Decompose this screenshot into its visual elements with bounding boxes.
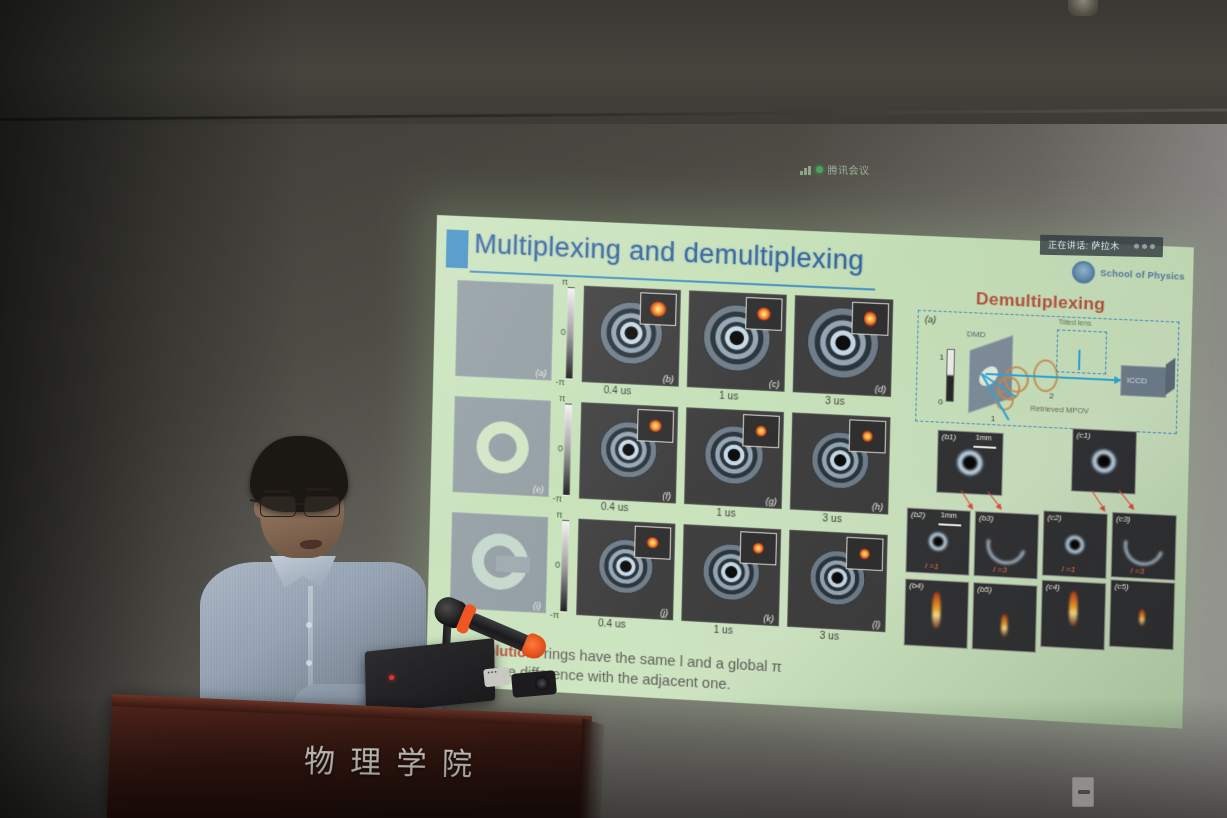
optical-setup-diagram: (a) 1 0 DMD Tilted lens ICCD [915,310,1179,434]
result-panel: (b2) 1mm l =1 [905,507,970,575]
crest-icon [1072,261,1095,284]
time-label: 0.4 us [604,385,632,397]
results-matrix: (a) π 0 -π (b) (c) [449,278,903,653]
inset-panel [634,526,671,560]
time-label: 1 us [719,391,738,403]
tencent-meeting-indicator: 腾讯会议 [800,162,870,177]
arc-beam [980,519,1033,571]
time-label: 1 us [713,625,732,637]
usb-webcam [511,670,557,698]
wall-outlet [1072,777,1094,807]
section-heading: Demultiplexing [976,289,1106,315]
donut-beam [926,530,949,554]
panel-label: (d) [875,384,887,395]
inset-panel [637,409,674,443]
eyebrow [264,490,290,493]
panel-label: (f) [662,491,671,502]
measurement-panel: (b) [582,286,681,387]
lens-left [260,496,296,517]
dmd-label: DMD [967,329,986,339]
lens-label: Tilted lens [1058,319,1091,328]
intensity-streak [1001,614,1008,637]
ceiling-fixture-icon [1068,0,1098,16]
panel-label: (c) [769,379,780,390]
matrix-row: (a) π 0 -π (b) (c) [455,278,904,412]
focal-spot [755,425,766,437]
phase-colorbar [566,287,575,380]
shirt-button [306,660,312,666]
pointer-arrow [1091,491,1104,509]
logo-text: School of Physics [1100,268,1185,282]
matrix-row: (i) π 0 -π (j) (k) [449,510,898,647]
donut-beam [1089,446,1119,476]
retrieved-mpov-label: Retrieved MPOV [1030,404,1089,416]
tilted-lens-box [1056,329,1107,374]
focal-spot [649,420,662,433]
panel-label: (c4) [1046,582,1061,592]
result-panel: (b4) [904,578,970,649]
inset-panel [846,537,884,571]
mode-label: l =3 [993,565,1007,575]
panel-label: (a) [535,368,546,379]
colorbar-mid-label: 0 [561,327,566,337]
ellipsis-icon [1134,244,1155,249]
slider-high-label: 1 [939,352,944,361]
time-label: 1 us [716,508,735,520]
laptop-indicator-light [389,675,394,681]
arc-beam [1117,520,1171,572]
inset-panel [742,414,779,448]
donut-beam [1063,533,1086,557]
scale-label: 1mm [976,435,992,443]
results-grid: (b1) 1mm (c1) (b2) 1mm [903,428,1181,687]
lecture-hall-photo: 腾讯会议 Multiplexing and demultiplexing Sch… [0,0,1227,818]
result-panel: (c2) l =1 [1042,510,1108,579]
mode-label: l =1 [925,561,939,571]
source-panel: (i) [450,512,548,613]
focal-spot [649,301,667,317]
time-label: 3 us [822,513,842,525]
glasses-bridge [296,503,305,505]
colorbar-bottom-label: -π [550,610,560,621]
time-label: 3 us [819,631,839,643]
panel-label: (l) [872,619,880,630]
panel-label: (c5) [1114,582,1129,592]
focal-spot [864,310,877,327]
signal-bars-icon [800,165,811,175]
meeting-app-name: 腾讯会议 [828,162,870,177]
colorbar-mid-label: 0 [555,560,560,570]
measurement-panel: (c) [687,290,787,391]
panel-label: (i) [533,601,541,611]
page-title: Multiplexing and demultiplexing [474,229,864,277]
colorbar-bottom-label: -π [555,377,565,387]
colorbar-top-label: π [562,277,568,287]
panel-label: (j) [660,608,668,619]
panel-label: (g) [765,496,776,507]
intensity-streak [1139,610,1145,627]
diagram-label: (a) [925,314,937,325]
shirt-button [306,622,312,628]
intensity-streak [932,593,941,630]
panel-label: (h) [872,502,884,513]
colorbar-mid-label: 0 [558,443,563,453]
grayscale-slider-icon [946,349,956,402]
inset-panel [851,302,889,336]
floor-shadow [0,698,1227,818]
panel-label: (c1) [1076,430,1091,440]
measurement-panel: (k) [681,524,781,626]
lens-right [304,496,340,517]
speaking-label: 正在讲话: 萨拉木 [1048,238,1120,252]
measurement-panel: (d) [793,295,894,397]
source-panel: (e) [452,396,551,497]
time-label: 0.4 us [601,502,629,514]
source-panel: (a) [455,280,554,381]
panel-label: (c3) [1116,514,1131,524]
measurement-panel: (g) [684,407,784,509]
inset-panel [640,292,677,326]
slider-low-label: 0 [938,397,943,406]
scale-label: 1mm [941,512,957,520]
phase-colorbar [560,520,569,613]
panel-label: (b2) [911,510,926,520]
intensity-streak [1069,591,1078,626]
focal-spot [862,430,873,443]
inset-panel [745,297,782,331]
speaking-indicator: 正在讲话: 萨拉木 [1040,235,1163,258]
panel-label: (b4) [909,581,924,591]
mode-label: l =3 [1130,566,1144,576]
matrix-row: (e) π 0 -π (f) (g) [452,394,901,529]
panel-label: (b1) [942,432,957,442]
phase-colorbar [563,403,572,496]
panel-label: (b3) [979,513,994,523]
colorbar-top-label: π [559,393,565,403]
focal-spot [753,542,764,554]
recording-dot-icon [816,166,823,173]
result-panel: (b5) [972,582,1038,653]
measurement-panel: (j) [576,519,675,621]
inset-panel [740,531,777,565]
time-label: 3 us [825,396,845,408]
colorbar-bottom-label: -π [553,493,563,504]
order-1-label: 1 [991,414,996,423]
eyebrow [306,488,332,491]
measurement-panel: (f) [579,402,678,503]
result-panel: (c4) [1040,580,1106,651]
measurement-panel: (h) [790,412,891,514]
iccd-label: ICCD [1127,376,1148,386]
eyeglasses-icon [258,496,350,518]
measurement-panel: (l) [787,530,888,633]
panel-label: (b5) [977,584,992,594]
result-panel: (b3) l =3 [973,511,1039,580]
presentation-clicker[interactable] [483,667,511,688]
demultiplexing-section: Demultiplexing (a) 1 0 DMD Tilted lens [903,276,1185,708]
scale-bar [938,523,961,526]
donut-beam [954,447,986,479]
ring-gap [496,555,530,573]
mode-label: l =1 [1062,564,1076,574]
inset-panel [849,419,887,453]
focal-spot [646,537,658,549]
panel-label: (e) [533,484,544,495]
focal-spot [859,548,870,560]
panel-label: (c2) [1047,513,1062,523]
result-panel: (c1) [1071,428,1137,495]
result-panel: (b1) 1mm [936,430,1004,496]
focal-spot [757,307,772,321]
result-panel: (c5) [1109,579,1175,650]
panel-label: (b) [663,374,674,385]
title-accent-block [446,229,469,268]
colorbar-top-label: π [556,509,562,519]
result-panel: (c3) l =3 [1111,512,1177,581]
order-2-label: 2 [1049,391,1054,400]
time-label: 0.4 us [598,618,626,631]
panel-label: (k) [763,613,774,624]
